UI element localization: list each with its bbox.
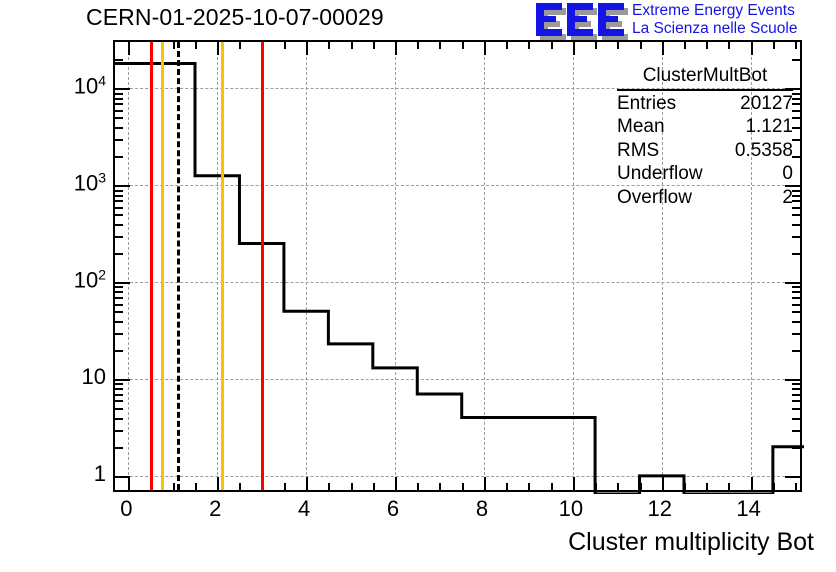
statistics-row: Underflow0 — [617, 162, 793, 186]
eee-logo-mark-icon — [536, 3, 626, 37]
marker-line-threshold-low-orange — [161, 42, 164, 490]
x-tick-label: 6 — [387, 496, 399, 522]
statistics-value: 2 — [782, 186, 793, 210]
y-tick-label: 10 — [82, 364, 106, 390]
root-canvas: CERN-01-2025-10-07-00029 Extreme Energy … — [0, 0, 836, 572]
marker-line-mean-line — [177, 42, 180, 490]
statistics-key: Underflow — [617, 162, 709, 186]
eee-letter-1-icon — [536, 3, 562, 35]
y-tick-label: 1 — [94, 461, 106, 487]
eee-logo-line2: La Scienza nelle Scuole — [632, 20, 797, 38]
x-tick-label: 0 — [120, 496, 132, 522]
statistics-row: Mean1.121 — [617, 115, 793, 139]
eee-letter-3-icon — [598, 3, 624, 35]
x-tick-label: 2 — [209, 496, 221, 522]
statistics-value: 0 — [782, 162, 793, 186]
y-tick-label: 103 — [74, 169, 106, 196]
x-axis-title: Cluster multiplicity Bot — [568, 528, 814, 557]
x-tick-label: 12 — [648, 496, 672, 522]
statistics-value: 20127 — [740, 92, 793, 116]
statistics-key: Mean — [617, 115, 671, 139]
statistics-box: ClusterMultBot Entries20127Mean1.121RMS0… — [617, 64, 793, 209]
page-title: CERN-01-2025-10-07-00029 — [86, 4, 384, 31]
statistics-key: RMS — [617, 139, 665, 163]
x-tick-label: 10 — [559, 496, 583, 522]
x-tick-label: 14 — [736, 496, 760, 522]
statistics-key: Entries — [617, 92, 682, 116]
statistics-row: RMS0.5358 — [617, 139, 793, 163]
y-tick-label: 104 — [74, 73, 106, 100]
statistics-value: 1.121 — [745, 115, 793, 139]
marker-line-threshold-high-orange — [221, 42, 224, 490]
y-tick-label: 102 — [74, 266, 106, 293]
statistics-row: Overflow2 — [617, 186, 793, 210]
marker-line-threshold-low-red — [150, 42, 153, 490]
eee-logo-line1: Extreme Energy Events — [632, 2, 797, 20]
statistics-rows: Entries20127Mean1.121RMS0.5358Underflow0… — [617, 92, 793, 210]
marker-line-threshold-high-red — [261, 42, 264, 490]
statistics-value: 0.5358 — [735, 139, 793, 163]
statistics-row: Entries20127 — [617, 92, 793, 116]
eee-logo: Extreme Energy Events La Scienza nelle S… — [536, 2, 834, 40]
x-tick-label: 8 — [476, 496, 488, 522]
statistics-title: ClusterMultBot — [617, 64, 793, 91]
x-tick-label: 4 — [298, 496, 310, 522]
eee-logo-text: Extreme Energy Events La Scienza nelle S… — [632, 2, 797, 38]
statistics-key: Overflow — [617, 186, 698, 210]
eee-letter-2-icon — [567, 3, 593, 35]
